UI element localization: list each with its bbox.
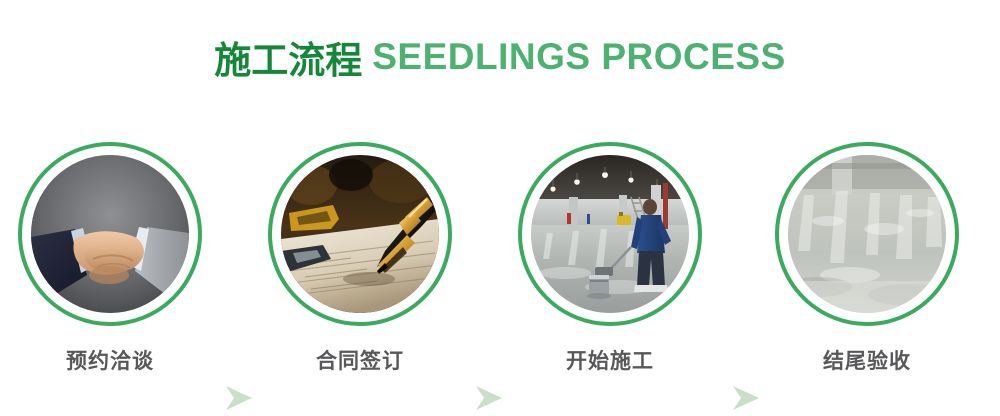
step-3-image-frame: [531, 155, 689, 313]
handshake-photo: [31, 155, 189, 313]
process-step-3[interactable]: 开始施工: [518, 142, 702, 376]
step-1-image-frame: [31, 155, 189, 313]
page-title-en: SEEDLINGS PROCESS: [372, 36, 786, 77]
process-steps: 预约洽谈: [0, 142, 1000, 382]
step-2-image-frame: [281, 155, 439, 313]
step-3-label: 开始施工: [518, 348, 702, 376]
page-title-cn: 施工流程: [214, 40, 362, 81]
finished-floor-photo: [788, 155, 946, 313]
process-step-1[interactable]: 预约洽谈: [18, 142, 202, 376]
contract-signing-photo: [281, 155, 439, 313]
page-title: 施工流程SEEDLINGS PROCESS: [0, 30, 1000, 84]
step-2-circle: [268, 142, 452, 326]
floor-construction-photo: [531, 155, 689, 313]
step-1-circle: [18, 142, 202, 326]
arrow-step-1-to-2: [222, 380, 258, 416]
process-step-2[interactable]: 合同签订: [268, 142, 452, 376]
step-4-label: 结尾验收: [775, 348, 959, 376]
step-3-circle: [518, 142, 702, 326]
process-step-4[interactable]: 结尾验收: [775, 142, 959, 376]
step-4-circle: [775, 142, 959, 326]
step-2-label: 合同签订: [268, 348, 452, 376]
step-4-image-frame: [788, 155, 946, 313]
arrow-step-3-to-4: [729, 380, 765, 416]
arrow-step-2-to-3: [472, 380, 508, 416]
step-1-label: 预约洽谈: [18, 348, 202, 376]
